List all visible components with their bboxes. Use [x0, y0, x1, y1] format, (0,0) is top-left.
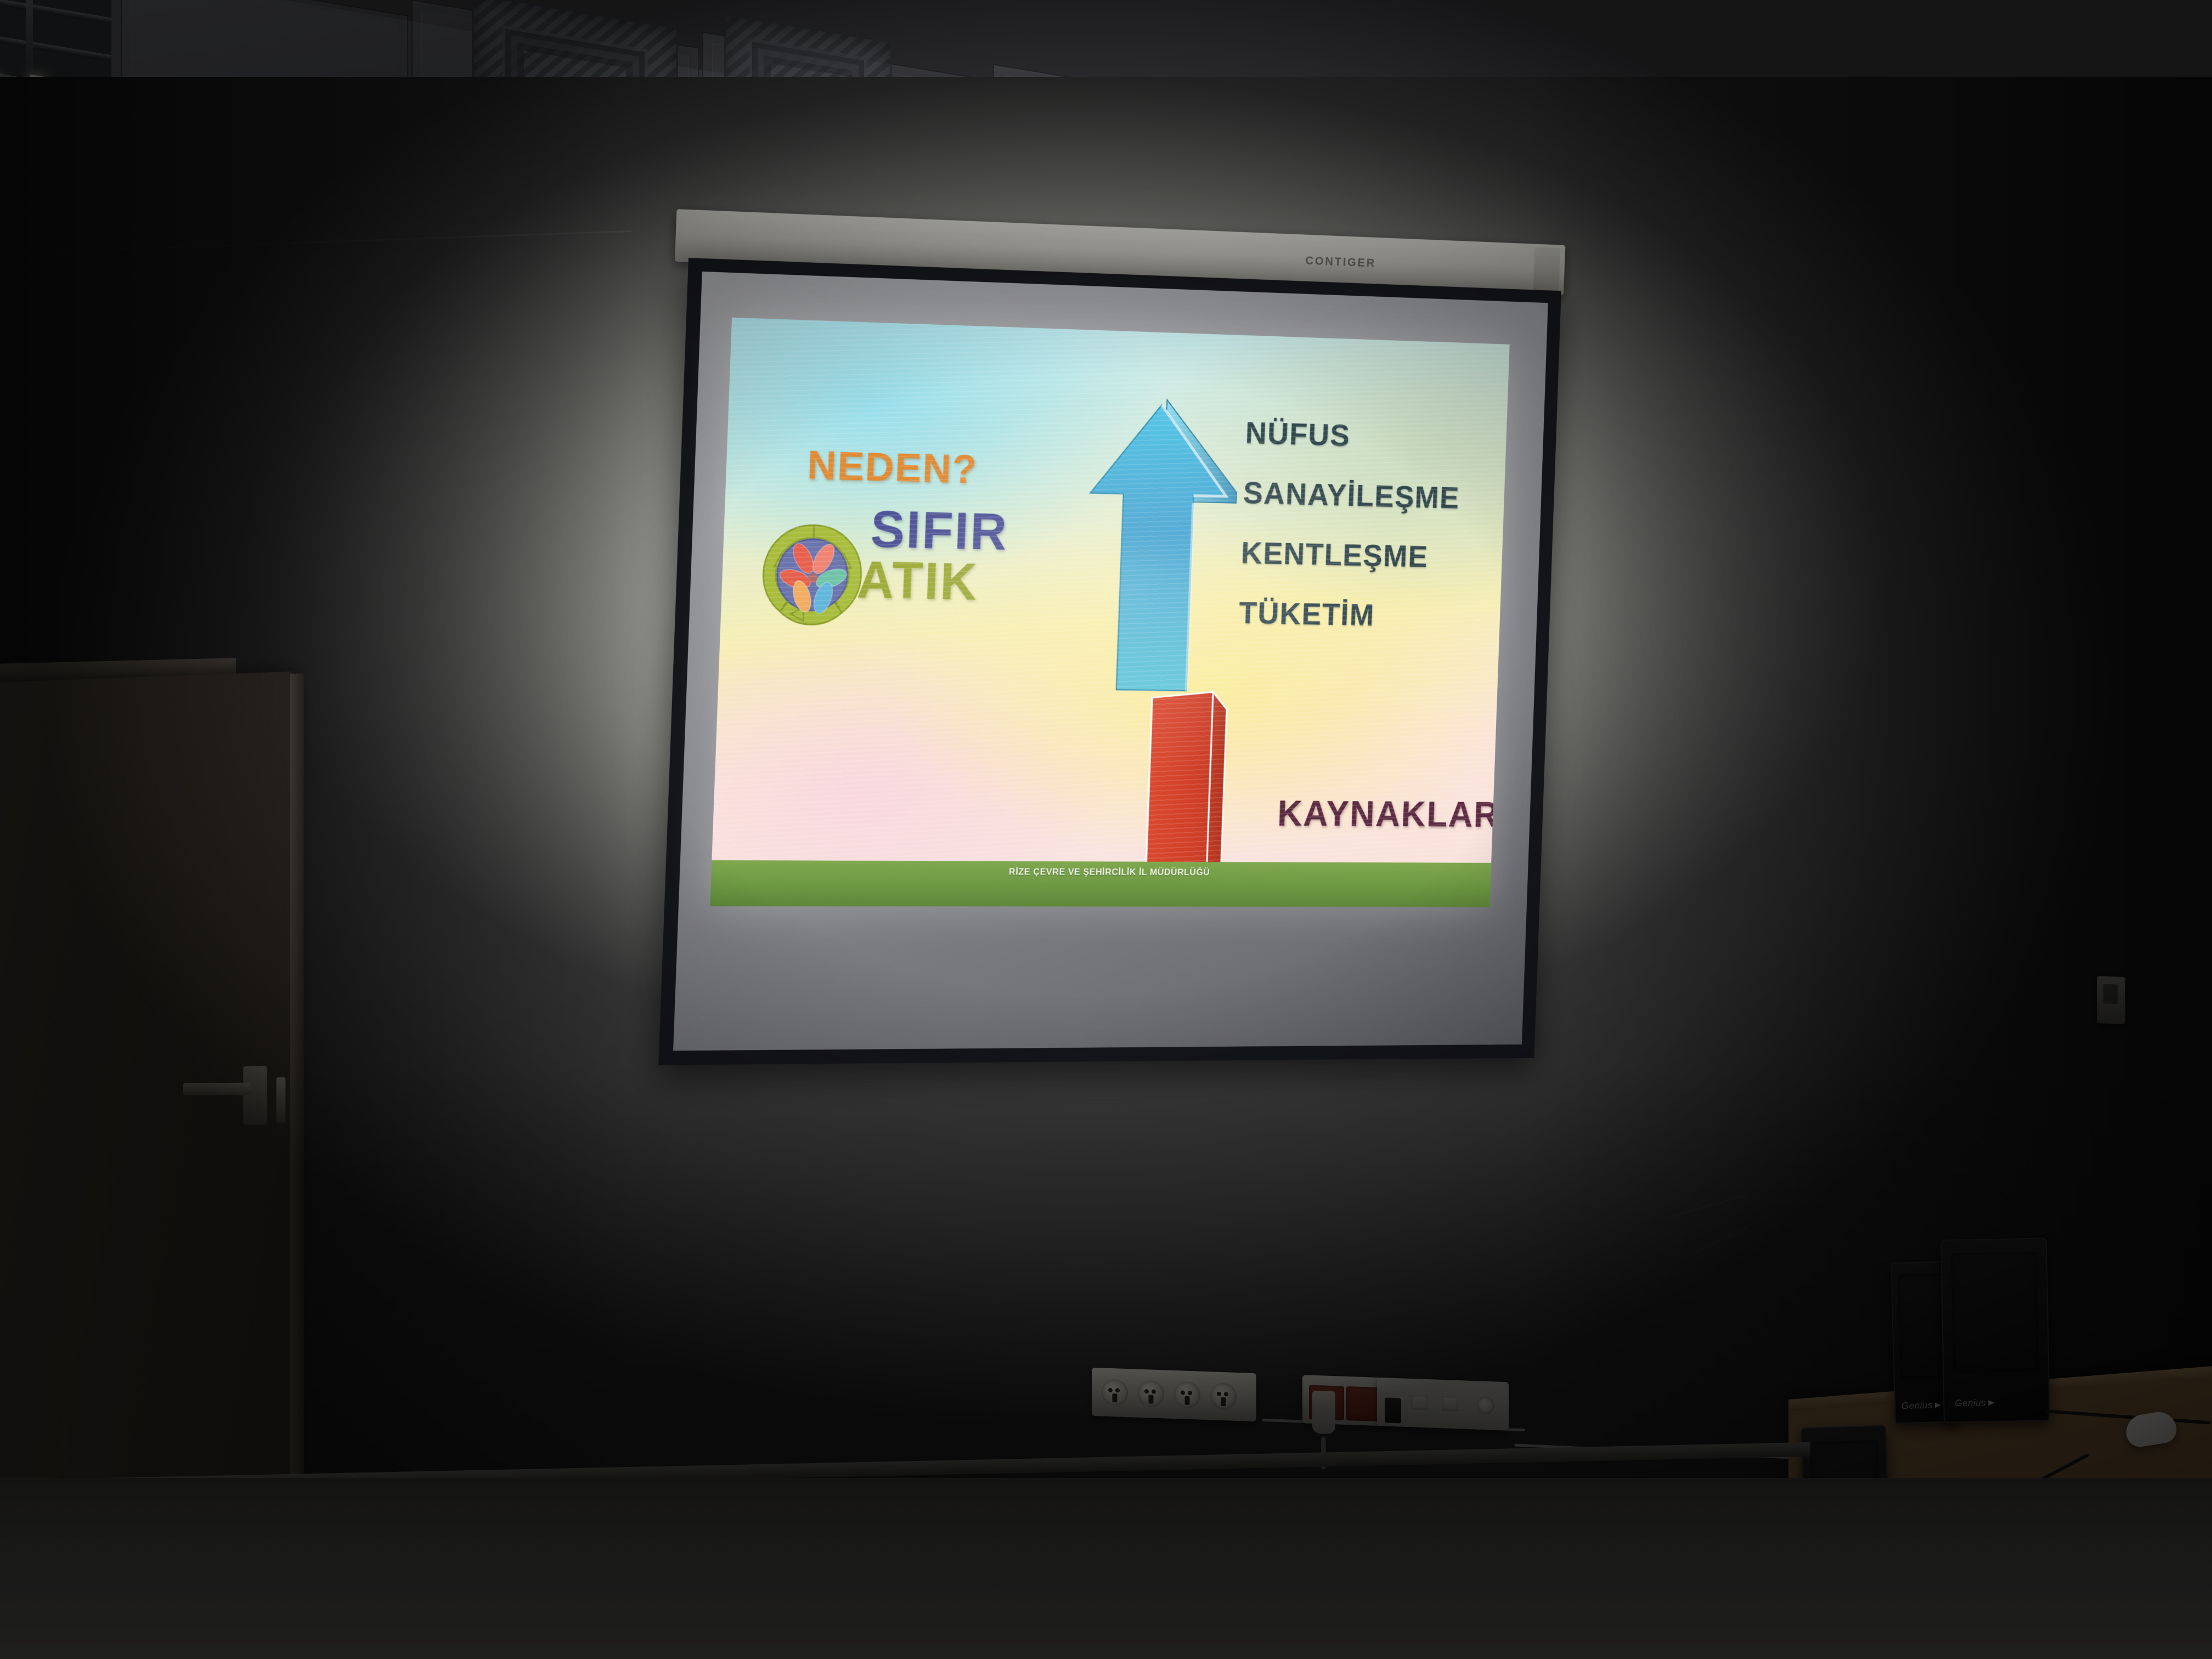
door-edge	[290, 673, 304, 1544]
projection-screen-frame: NEDEN?	[658, 258, 1561, 1065]
black-plug[interactable]	[1385, 1397, 1401, 1423]
wooden-door[interactable]	[0, 672, 295, 1551]
increasing-factors-list: NÜFUS SANAYİLEŞME KENTLEŞME TÜKETİM	[1237, 415, 1482, 658]
projection-screen-surface: NEDEN?	[673, 272, 1548, 1051]
door-lock-plate	[243, 1066, 267, 1125]
up-arrow-icon	[1079, 393, 1244, 696]
speaker-brand-label: Genius	[1901, 1400, 1941, 1412]
floor	[0, 1478, 2212, 1659]
brand-line-atik: ATIK	[856, 555, 1007, 608]
sifir-atik-wordmark: SIFIR ATIK	[868, 505, 1009, 608]
decreasing-factor-label: KAYNAKLAR	[1277, 793, 1500, 835]
room-scene: CONTIGER NEDEN?	[0, 0, 2212, 1659]
door-handle[interactable]	[183, 1083, 251, 1096]
brand-line-sifir: SIFIR	[870, 505, 1009, 557]
factor-label: TÜKETİM	[1238, 595, 1476, 635]
socket-plate-red[interactable]	[1302, 1375, 1385, 1426]
power-socket-red[interactable]	[1346, 1386, 1381, 1421]
power-socket[interactable]	[1102, 1379, 1128, 1406]
data-jack[interactable]	[1411, 1395, 1427, 1410]
wall-mounted-outlet[interactable]	[2097, 976, 2125, 1024]
door-lock-icon	[276, 1077, 286, 1123]
factor-label: KENTLEŞME	[1240, 535, 1478, 575]
projected-slide: NEDEN?	[710, 318, 1509, 907]
power-socket[interactable]	[1210, 1383, 1237, 1410]
socket-plate-data[interactable]	[1377, 1378, 1509, 1430]
power-socket[interactable]	[1138, 1380, 1164, 1408]
socket-plate-white[interactable]	[1092, 1368, 1256, 1421]
speaker-grille	[1951, 1252, 2039, 1373]
speaker-brand-label: Genius	[1955, 1397, 1994, 1409]
slide-footer-band: RİZE ÇEVRE VE ŞEHİRCİLİK İL MÜDÜRLÜĞÜ	[710, 860, 1491, 907]
factor-label: SANAYİLEŞME	[1243, 475, 1480, 516]
projector-screen: CONTIGER NEDEN?	[658, 258, 1561, 1065]
roller-mount-bracket	[1533, 247, 1560, 293]
speaker-center: Genius	[1940, 1238, 2050, 1423]
factor-label: NÜFUS	[1245, 415, 1482, 457]
sifir-atik-brand-block: SIFIR ATIK	[751, 499, 1053, 667]
sifir-atik-recycling-logo	[752, 514, 873, 635]
slide-heading: NEDEN?	[806, 441, 978, 492]
plugged-in-plug[interactable]	[1312, 1391, 1335, 1434]
data-jack[interactable]	[1442, 1396, 1458, 1411]
slide-footer-text: RİZE ÇEVRE VE ŞEHİRCİLİK İL MÜDÜRLÜĞÜ	[711, 866, 1491, 879]
small-socket[interactable]	[1477, 1396, 1494, 1414]
roller-brand-label: CONTIGER	[1305, 253, 1376, 270]
power-socket[interactable]	[1174, 1381, 1200, 1409]
